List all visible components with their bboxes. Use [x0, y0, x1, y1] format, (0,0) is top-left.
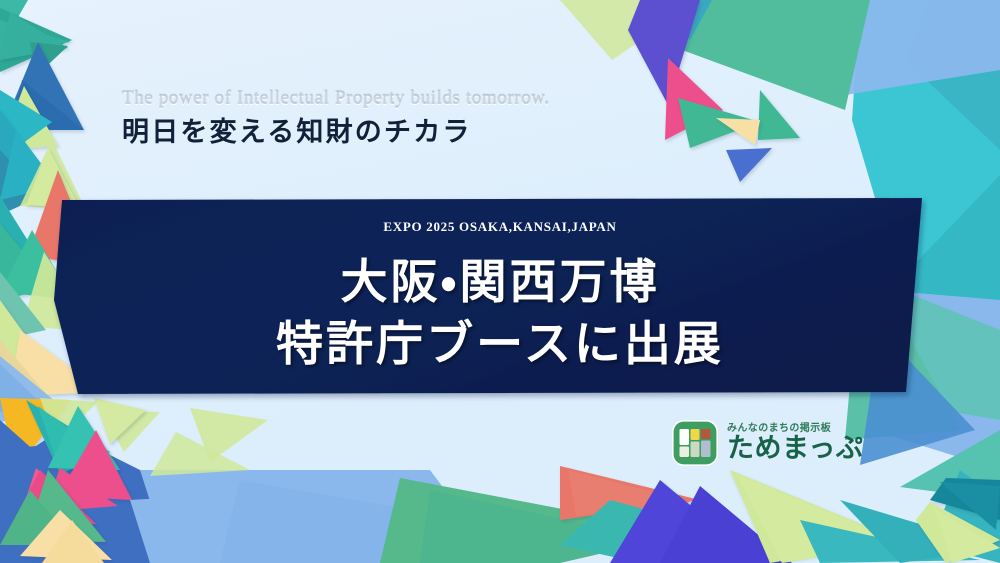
tamemap-logo[interactable]: みんなのまちの掲示板 ためまっぷ — [672, 420, 863, 466]
banner-eyebrow: EXPO 2025 OSAKA,KANSAI,JAPAN — [0, 219, 1000, 235]
tagline-english: The power of Intellectual Property build… — [122, 88, 550, 111]
poster-canvas: The power of Intellectual Property build… — [0, 0, 1000, 563]
logo-text-block: みんなのまちの掲示板 ためまっぷ — [727, 423, 863, 463]
tamemap-bulletin-board-icon — [672, 420, 718, 466]
logo-brand-name: ためまっぷ — [727, 435, 863, 463]
tagline-japanese: 明日を変える知財のチカラ — [122, 114, 550, 150]
banner-headline-line1: 大阪・関西万博 — [0, 243, 1000, 312]
tagline-block: The power of Intellectual Property build… — [122, 88, 550, 150]
banner-headline-line2: 特許庁ブースに出展 — [0, 305, 1000, 374]
